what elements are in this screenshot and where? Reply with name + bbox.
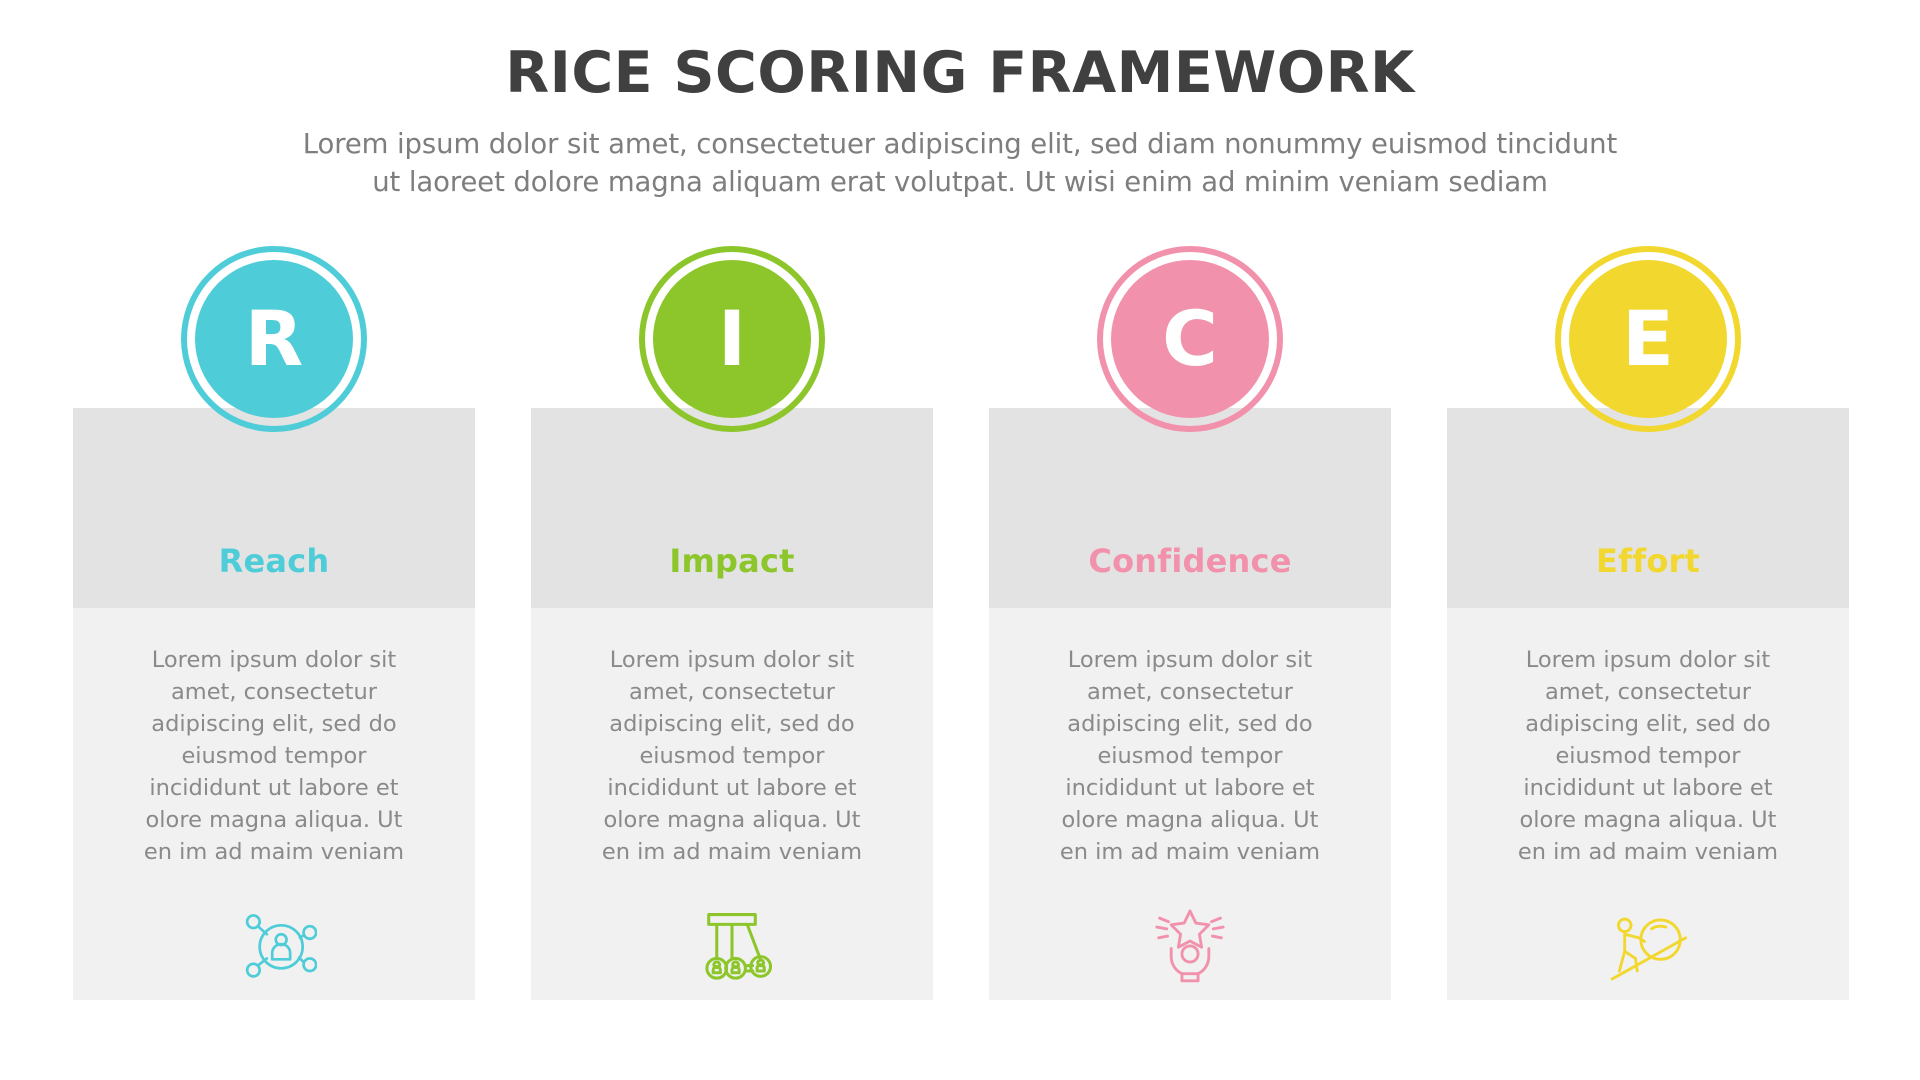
person-star-confidence-icon — [1142, 897, 1238, 993]
page-subtitle-line-2: ut laoreet dolore magna aliquam erat vol… — [115, 164, 1805, 202]
push-boulder-uphill-effort-icon — [1600, 897, 1696, 993]
card-impact[interactable]: I Impact Lorem ipsum dolor sit amet, con… — [531, 408, 933, 1000]
card-body-impact: Lorem ipsum dolor sit amet, consectetur … — [531, 608, 933, 1000]
badge-letter-confidence: C — [1111, 260, 1269, 418]
card-header-effort: E Effort — [1447, 408, 1849, 608]
card-label-confidence: Confidence — [1088, 545, 1291, 608]
badge-effort: E — [1555, 246, 1741, 432]
card-label-effort: Effort — [1596, 545, 1700, 608]
card-body-effort: Lorem ipsum dolor sit amet, consectetur … — [1447, 608, 1849, 1000]
card-confidence[interactable]: C Confidence Lorem ipsum dolor sit amet,… — [989, 408, 1391, 1000]
card-label-impact: Impact — [669, 545, 794, 608]
badge-letter-impact: I — [653, 260, 811, 418]
card-description-confidence: Lorem ipsum dolor sit amet, consectetur … — [1044, 645, 1336, 869]
card-description-effort: Lorem ipsum dolor sit amet, consectetur … — [1502, 645, 1794, 869]
card-reach[interactable]: R Reach Lorem ipsum dolor sit amet, cons… — [73, 408, 475, 1000]
page-subtitle: Lorem ipsum dolor sit amet, consectetuer… — [115, 126, 1805, 202]
badge-reach: R — [181, 246, 367, 432]
card-description-reach: Lorem ipsum dolor sit amet, consectetur … — [128, 645, 420, 869]
badge-letter-effort: E — [1569, 260, 1727, 418]
badge-letter-reach: R — [195, 260, 353, 418]
card-header-confidence: C Confidence — [989, 408, 1391, 608]
card-body-reach: Lorem ipsum dolor sit amet, consectetur … — [73, 608, 475, 1000]
card-body-confidence: Lorem ipsum dolor sit amet, consectetur … — [989, 608, 1391, 1000]
header-block: RICE SCORING FRAMEWORK Lorem ipsum dolor… — [0, 44, 1920, 202]
card-label-reach: Reach — [219, 545, 330, 608]
page-title: RICE SCORING FRAMEWORK — [0, 44, 1920, 104]
card-header-impact: I Impact — [531, 408, 933, 608]
network-reach-icon — [226, 897, 322, 993]
page-subtitle-line-1: Lorem ipsum dolor sit amet, consectetuer… — [115, 126, 1805, 164]
infographic-canvas: RICE SCORING FRAMEWORK Lorem ipsum dolor… — [0, 0, 1920, 1080]
card-effort[interactable]: E Effort Lorem ipsum dolor sit amet, con… — [1447, 408, 1849, 1000]
badge-confidence: C — [1097, 246, 1283, 432]
cards-row: R Reach Lorem ipsum dolor sit amet, cons… — [73, 408, 1849, 1000]
badge-impact: I — [639, 246, 825, 432]
newtons-cradle-impact-icon — [684, 897, 780, 993]
card-header-reach: R Reach — [73, 408, 475, 608]
card-description-impact: Lorem ipsum dolor sit amet, consectetur … — [586, 645, 878, 869]
